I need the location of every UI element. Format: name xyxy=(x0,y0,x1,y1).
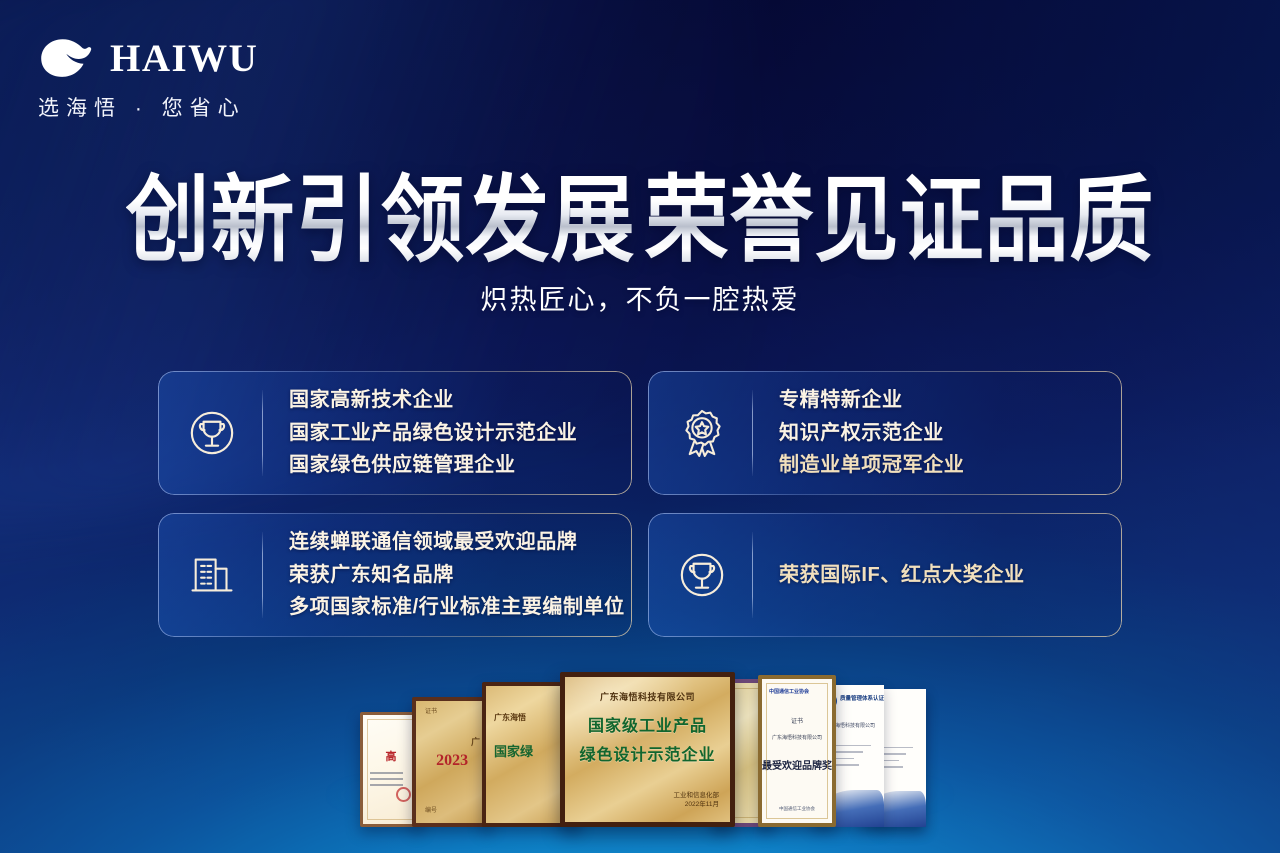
honor-card-brand-standards[interactable]: 连续蝉联通信领域最受欢迎品牌 荣获广东知名品牌 多项国家标准/行业标准主要编制单… xyxy=(158,513,632,637)
certificate-vertical-top: 证书 xyxy=(425,709,437,717)
honor-card-international-awards[interactable]: 荣获国际IF、红点大奖企业 xyxy=(648,513,1122,637)
card-line: 荣获广东知名品牌 xyxy=(289,561,625,589)
hero-headline-left: 创新引领发展 xyxy=(126,171,636,271)
brand-tagline: 选海悟 · 您省心 xyxy=(38,92,338,122)
card-line: 连续蝉联通信领域最受欢迎品牌 xyxy=(289,528,625,556)
honors-card-grid: 国家高新技术企业 国家工业产品绿色设计示范企业 国家绿色供应链管理企业 专精特新… xyxy=(158,371,1122,637)
certificate-company: 广东海悟科技有限公司 xyxy=(600,690,695,703)
honor-card-national-high-tech[interactable]: 国家高新技术企业 国家工业产品绿色设计示范企业 国家绿色供应链管理企业 xyxy=(158,371,632,495)
honor-card-specialized-new[interactable]: 专精特新企业 知识产权示范企业 制造业单项冠军企业 xyxy=(648,371,1122,495)
awards-showcase: 高 证书 广 2023 编号 广东海悟 国家绿 xyxy=(0,667,1280,827)
certificate-plaque-hero[interactable]: 广东海悟科技有限公司 国家级工业产品 绿色设计示范企业 工业和信息化部 2022… xyxy=(560,672,735,827)
hero-headline-right: 荣誉见证品质 xyxy=(644,171,1154,271)
certificate-issuer: 工业和信息化部 xyxy=(674,791,720,801)
hero-headline-wrap: 创新引领发展 荣誉见证品质 xyxy=(0,176,1280,265)
office-building-icon xyxy=(180,543,244,607)
certificate-plaque-2[interactable]: 证书 广 2023 编号 xyxy=(412,697,492,827)
card-text-lines: 连续蝉联通信领域最受欢迎品牌 荣获广东知名品牌 多项国家标准/行业标准主要编制单… xyxy=(289,528,625,621)
card-text-lines: 荣获国际IF、红点大奖企业 xyxy=(779,561,1025,589)
medal-ribbon-star-icon xyxy=(670,401,734,465)
certificate-vertical-bottom: 编号 xyxy=(425,808,437,816)
haiwu-leaf-mark-icon xyxy=(38,36,96,80)
red-seal-icon xyxy=(396,787,411,802)
certificate-title-line2: 绿色设计示范企业 xyxy=(579,741,715,765)
banner-stage: HAIWU 选海悟 · 您省心 创新引领发展 荣誉见证品质 炽热匠心，不负一腔热… xyxy=(0,0,1280,853)
card-divider xyxy=(752,390,753,476)
card-line: 国家工业产品绿色设计示范企业 xyxy=(289,419,577,447)
card-line: 多项国家标准/行业标准主要编制单位 xyxy=(289,593,625,621)
certificate-footer: 工业和信息化部 2022年11月 xyxy=(674,791,720,811)
certificate-side-text: 广 xyxy=(471,735,480,748)
certificate-headline: 高 xyxy=(386,748,397,764)
card-line: 荣获国际IF、红点大奖企业 xyxy=(779,561,1025,589)
certificate-footer: 中国通信工业协会 xyxy=(779,806,815,812)
card-text-lines: 专精特新企业 知识产权示范企业 制造业单项冠军企业 xyxy=(779,386,964,479)
brand-logo-row: HAIWU xyxy=(38,36,338,80)
card-line: 国家绿色供应链管理企业 xyxy=(289,451,577,479)
certificate-company: 广东海悟 xyxy=(494,712,526,723)
card-divider xyxy=(262,390,263,476)
certificate-title: 国家绿 xyxy=(494,741,533,760)
card-divider xyxy=(752,532,753,618)
card-divider xyxy=(262,532,263,618)
certificate-award: 最受欢迎品牌奖 xyxy=(762,757,832,772)
card-line: 知识产权示范企业 xyxy=(779,419,964,447)
ornament-border xyxy=(367,719,415,820)
hero-subtitle: 炽热匠心，不负一腔热爱 xyxy=(0,278,1280,317)
certificate-plaque-6[interactable]: 中国通信工业协会 证书 广东海悟科技有限公司 最受欢迎品牌奖 中国通信工业协会 xyxy=(758,675,836,827)
card-line: 国家高新技术企业 xyxy=(289,386,577,414)
card-line: 制造业单项冠军企业 xyxy=(779,451,964,479)
trophy-circle-icon xyxy=(180,401,244,465)
brand-wordmark: HAIWU xyxy=(110,39,258,78)
certificate-title-line1: 国家级工业产品 xyxy=(588,712,707,736)
certificate-company: 广东海悟科技有限公司 xyxy=(772,734,822,741)
certificate-label: 证书 xyxy=(791,716,803,725)
trophy-circle-icon xyxy=(670,543,734,607)
certificate-title: 质量管理体系认证证书 xyxy=(840,694,884,702)
card-line: 专精特新企业 xyxy=(779,386,964,414)
card-text-lines: 国家高新技术企业 国家工业产品绿色设计示范企业 国家绿色供应链管理企业 xyxy=(289,386,577,479)
certificate-date: 2022年11月 xyxy=(674,800,720,810)
certificate-year: 2023 xyxy=(436,752,468,770)
awards-row: 高 证书 广 2023 编号 广东海悟 国家绿 xyxy=(360,667,920,827)
brand-logo-block: HAIWU 选海悟 · 您省心 xyxy=(38,36,338,122)
certificate-header: 中国通信工业协会 xyxy=(769,688,809,695)
